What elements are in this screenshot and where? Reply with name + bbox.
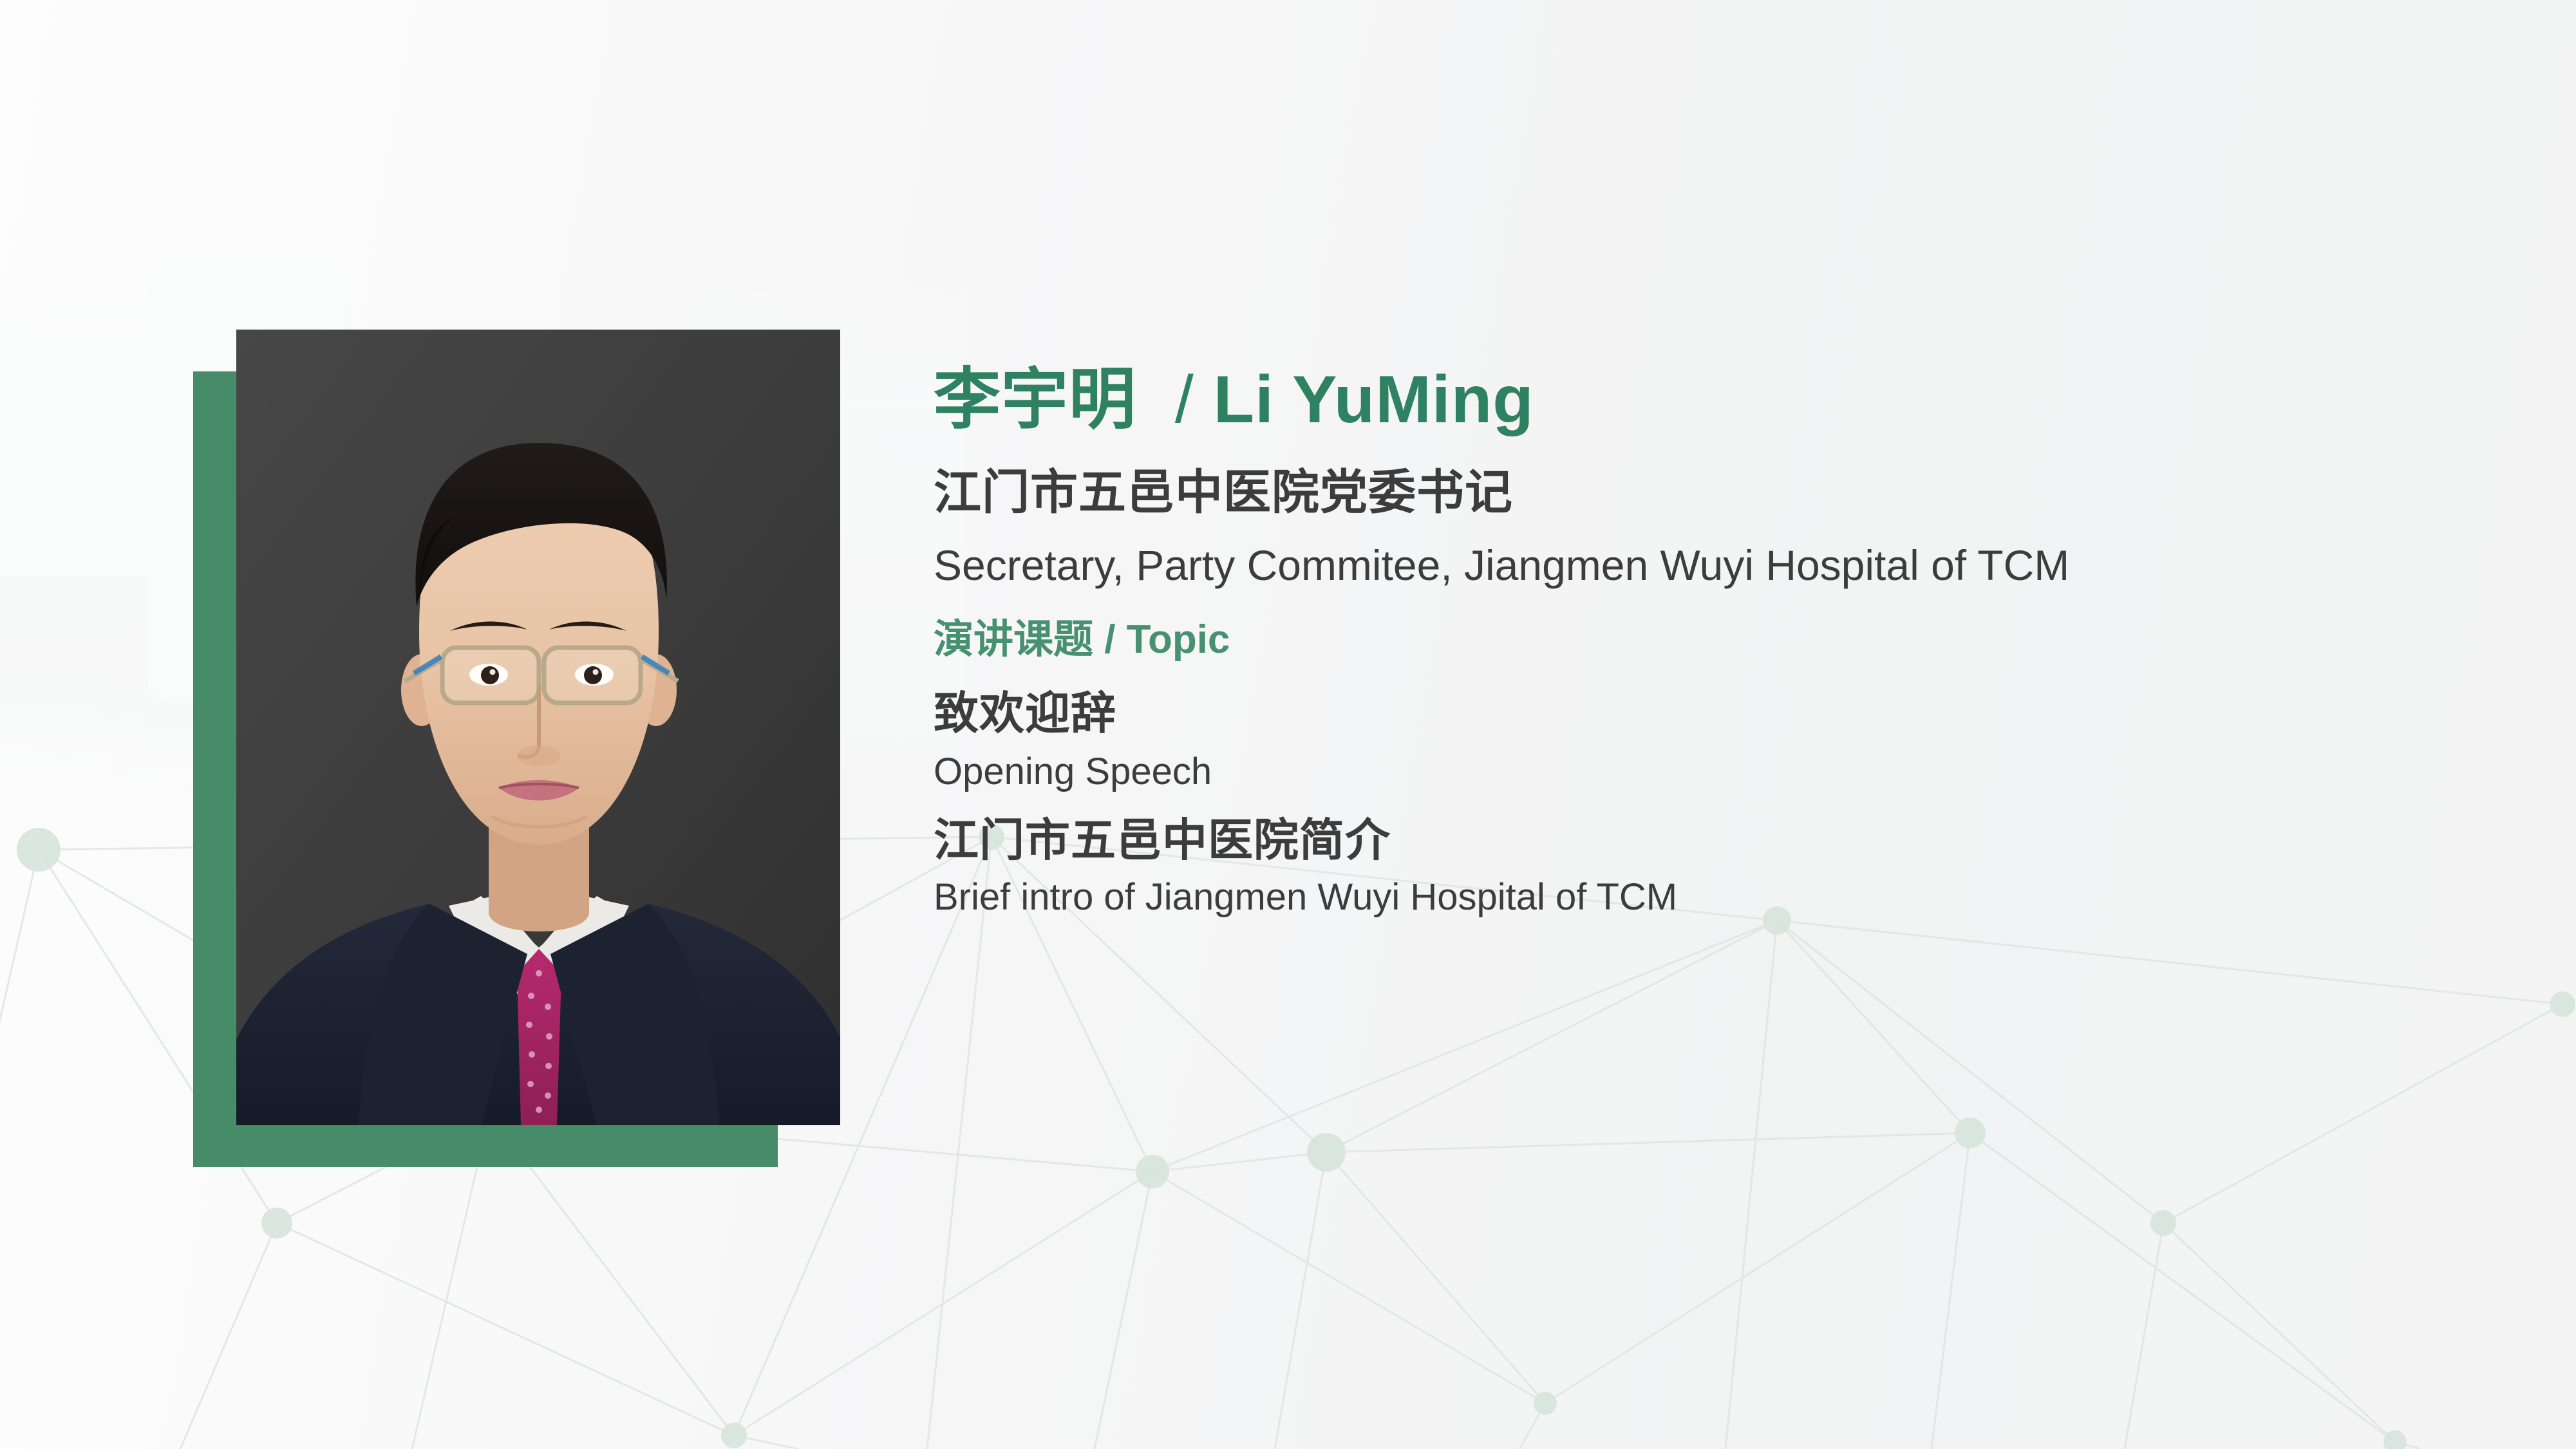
speaker-title-en: Secretary, Party Commitee, Jiangmen Wuyi… bbox=[934, 541, 2492, 591]
topic-item-1-en: Opening Speech bbox=[934, 749, 2492, 794]
topic-item-1-cn: 致欢迎辞 bbox=[934, 686, 2492, 740]
speaker-name-row: 李宇明 / Li YuMing bbox=[934, 360, 2492, 440]
speaker-name-en: Li YuMing bbox=[1214, 362, 1534, 437]
topic-item-2-en: Brief intro of Jiangmen Wuyi Hospital of… bbox=[934, 875, 2492, 920]
speaker-name-cn: 李宇明 bbox=[934, 362, 1136, 437]
speaker-intro-slide: 李宇明 / Li YuMing 江门市五邑中医院党委书记 Secretary, … bbox=[0, 0, 2576, 1449]
speaker-portrait bbox=[236, 330, 840, 1125]
topic-item-2-cn: 江门市五邑中医院简介 bbox=[934, 813, 2492, 867]
speaker-text-column: 李宇明 / Li YuMing 江门市五邑中医院党委书记 Secretary, … bbox=[934, 360, 2492, 920]
portrait-block bbox=[193, 330, 843, 1170]
speaker-title-cn: 江门市五邑中医院党委书记 bbox=[934, 464, 2492, 521]
topic-section-label: 演讲课题 / Topic bbox=[934, 616, 2492, 664]
name-separator: / bbox=[1175, 362, 1194, 437]
